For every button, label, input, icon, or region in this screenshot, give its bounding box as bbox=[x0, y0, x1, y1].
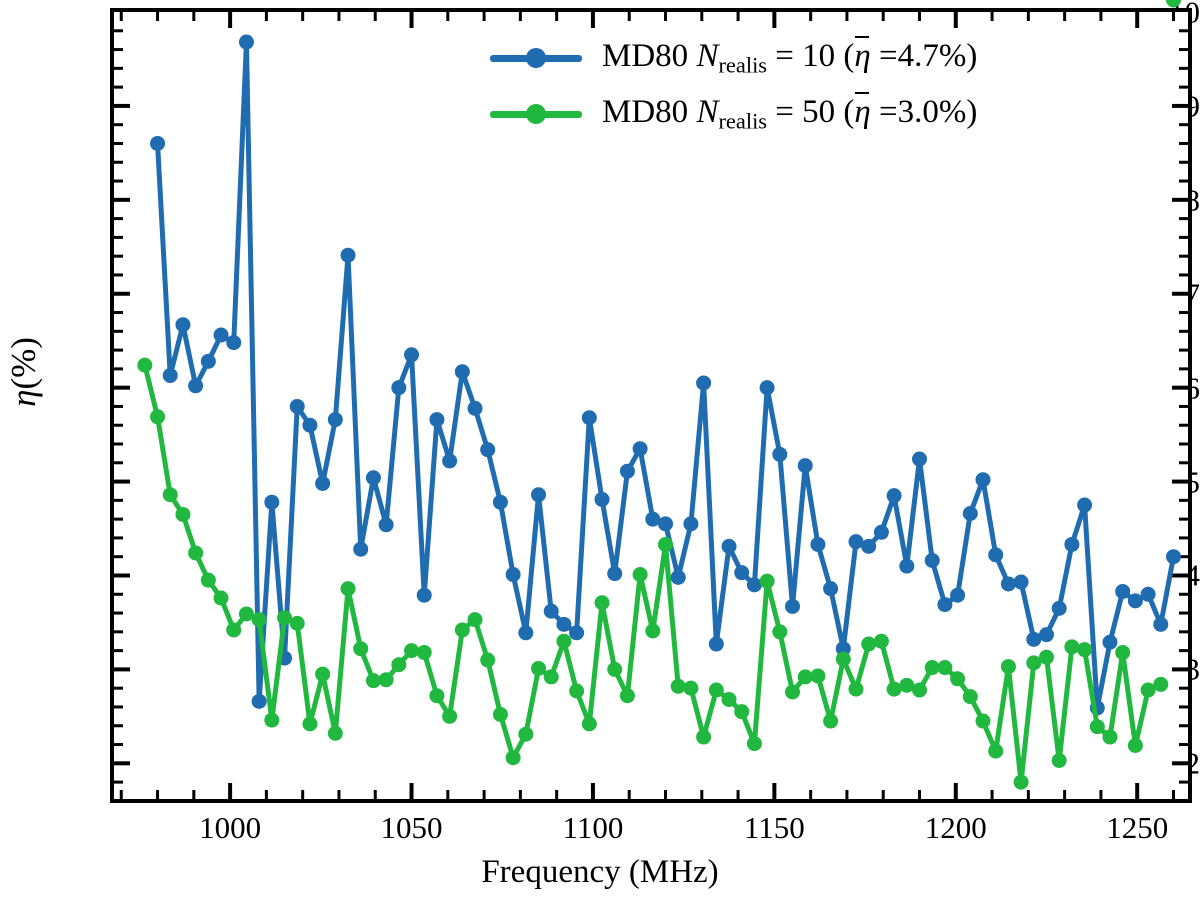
y-axis-title-unit: (%) bbox=[4, 337, 43, 389]
data-point bbox=[734, 704, 749, 719]
data-point bbox=[315, 667, 330, 682]
data-point bbox=[1052, 601, 1067, 616]
chart-root: 1098765432 100010501100115012001250 η(%)… bbox=[0, 0, 1200, 903]
data-point bbox=[150, 409, 165, 424]
data-point bbox=[633, 441, 648, 456]
data-point bbox=[417, 645, 432, 660]
data-point bbox=[518, 625, 533, 640]
data-point bbox=[455, 622, 470, 637]
x-axis-title: Frequency (MHz) bbox=[0, 854, 1200, 891]
data-point bbox=[696, 730, 711, 745]
data-point bbox=[772, 447, 787, 462]
data-point bbox=[328, 412, 343, 427]
data-point bbox=[175, 317, 190, 332]
data-point bbox=[620, 464, 635, 479]
data-point bbox=[620, 688, 635, 703]
data-point bbox=[290, 399, 305, 414]
data-point bbox=[404, 347, 419, 362]
data-point bbox=[925, 553, 940, 568]
data-point bbox=[607, 566, 622, 581]
data-point bbox=[366, 673, 381, 688]
data-point bbox=[899, 559, 914, 574]
data-point bbox=[1001, 659, 1016, 674]
data-point bbox=[1039, 627, 1054, 642]
data-point bbox=[569, 625, 584, 640]
data-point bbox=[950, 588, 965, 603]
data-point bbox=[188, 378, 203, 393]
data-point bbox=[544, 669, 559, 684]
data-point bbox=[1039, 650, 1054, 665]
data-point bbox=[328, 726, 343, 741]
data-point bbox=[671, 570, 686, 585]
chart-legend: MD80 Nrealis = 10 (η =4.7%)MD80 Nrealis … bbox=[490, 30, 1150, 142]
data-point bbox=[429, 412, 444, 427]
data-point bbox=[252, 694, 267, 709]
data-point bbox=[760, 380, 775, 395]
data-point bbox=[836, 652, 851, 667]
legend-swatch-icon bbox=[490, 103, 582, 125]
data-point bbox=[404, 643, 419, 658]
data-point bbox=[1064, 639, 1079, 654]
data-point bbox=[988, 744, 1003, 759]
data-point bbox=[506, 750, 521, 765]
data-point bbox=[747, 577, 762, 592]
data-point bbox=[442, 453, 457, 468]
data-point bbox=[849, 682, 864, 697]
data-point bbox=[810, 668, 825, 683]
data-point bbox=[188, 545, 203, 560]
data-point bbox=[658, 537, 673, 552]
data-point bbox=[137, 358, 152, 373]
data-point bbox=[239, 35, 254, 50]
data-point bbox=[531, 487, 546, 502]
data-point bbox=[468, 612, 483, 627]
legend-item-n50[interactable]: MD80 Nrealis = 50 (η =3.0%) bbox=[490, 86, 1150, 142]
data-point bbox=[506, 567, 521, 582]
data-point bbox=[468, 401, 483, 416]
data-point bbox=[429, 688, 444, 703]
data-point bbox=[912, 452, 927, 467]
data-point bbox=[201, 354, 216, 369]
data-point bbox=[887, 488, 902, 503]
data-point bbox=[442, 709, 457, 724]
data-point bbox=[1102, 635, 1117, 650]
data-point bbox=[353, 641, 368, 656]
data-point bbox=[493, 707, 508, 722]
data-point bbox=[595, 492, 610, 507]
data-point bbox=[544, 604, 559, 619]
data-point bbox=[963, 689, 978, 704]
data-point bbox=[722, 539, 737, 554]
data-point bbox=[1153, 677, 1168, 692]
data-point bbox=[480, 653, 495, 668]
data-point bbox=[633, 567, 648, 582]
data-point bbox=[1166, 549, 1181, 564]
data-point bbox=[455, 364, 470, 379]
data-point bbox=[556, 617, 571, 632]
data-point bbox=[645, 623, 660, 638]
data-point bbox=[874, 634, 889, 649]
data-point bbox=[1115, 645, 1130, 660]
data-point bbox=[391, 380, 406, 395]
data-point bbox=[709, 637, 724, 652]
data-point bbox=[302, 716, 317, 731]
data-point bbox=[353, 542, 368, 557]
data-point bbox=[937, 660, 952, 675]
data-point bbox=[823, 581, 838, 596]
data-point bbox=[569, 684, 584, 699]
data-point bbox=[747, 736, 762, 751]
data-point bbox=[163, 368, 178, 383]
data-point bbox=[175, 507, 190, 522]
data-point bbox=[1128, 738, 1143, 753]
legend-label: MD80 Nrealis = 50 (η =3.0%) bbox=[602, 94, 977, 134]
data-point bbox=[722, 692, 737, 707]
data-point bbox=[1141, 587, 1156, 602]
data-point bbox=[1052, 753, 1067, 768]
data-point bbox=[556, 634, 571, 649]
data-point bbox=[798, 458, 813, 473]
y-axis-title: η(%) bbox=[4, 312, 44, 432]
data-point bbox=[518, 727, 533, 742]
data-point bbox=[861, 539, 876, 554]
data-point bbox=[709, 683, 724, 698]
data-point bbox=[1077, 498, 1092, 513]
data-point bbox=[302, 418, 317, 433]
data-point bbox=[379, 517, 394, 532]
data-point bbox=[887, 682, 902, 697]
legend-swatch-icon bbox=[490, 47, 582, 69]
data-point bbox=[785, 599, 800, 614]
data-point bbox=[264, 713, 279, 728]
data-point bbox=[226, 335, 241, 350]
legend-label: MD80 Nrealis = 10 (η =4.7%) bbox=[602, 38, 977, 78]
data-point bbox=[252, 612, 267, 627]
data-point bbox=[937, 597, 952, 612]
data-point bbox=[658, 516, 673, 531]
data-point bbox=[201, 573, 216, 588]
data-point bbox=[760, 574, 775, 589]
data-point bbox=[607, 662, 622, 677]
data-point bbox=[1014, 575, 1029, 590]
data-point bbox=[1128, 593, 1143, 608]
data-point bbox=[315, 476, 330, 491]
data-point bbox=[1115, 584, 1130, 599]
data-point bbox=[1014, 775, 1029, 790]
data-point bbox=[366, 470, 381, 485]
data-point bbox=[874, 525, 889, 540]
data-point bbox=[810, 537, 825, 552]
data-point bbox=[163, 487, 178, 502]
data-point bbox=[976, 472, 991, 487]
data-point bbox=[341, 248, 356, 263]
data-point bbox=[734, 565, 749, 580]
data-point bbox=[480, 442, 495, 457]
data-point bbox=[823, 714, 838, 729]
data-point bbox=[976, 714, 991, 729]
data-point bbox=[214, 591, 229, 606]
legend-item-n10[interactable]: MD80 Nrealis = 10 (η =4.7%) bbox=[490, 30, 1150, 86]
data-point bbox=[1090, 719, 1105, 734]
data-point bbox=[1064, 537, 1079, 552]
data-point bbox=[595, 595, 610, 610]
data-point bbox=[1102, 730, 1117, 745]
data-point bbox=[582, 410, 597, 425]
data-point bbox=[683, 516, 698, 531]
data-point bbox=[214, 328, 229, 343]
data-point bbox=[671, 679, 686, 694]
data-point bbox=[379, 672, 394, 687]
data-point bbox=[341, 581, 356, 596]
data-point bbox=[785, 684, 800, 699]
eta-symbol: η bbox=[4, 390, 43, 407]
data-point bbox=[861, 637, 876, 652]
data-point bbox=[391, 657, 406, 672]
data-point bbox=[1153, 617, 1168, 632]
data-point bbox=[963, 506, 978, 521]
data-point bbox=[1001, 576, 1016, 591]
data-point bbox=[988, 547, 1003, 562]
data-point bbox=[531, 661, 546, 676]
data-point bbox=[264, 495, 279, 510]
data-point bbox=[226, 622, 241, 637]
data-point bbox=[1077, 642, 1092, 657]
data-point bbox=[582, 716, 597, 731]
data-point bbox=[290, 616, 305, 631]
data-point bbox=[772, 624, 787, 639]
data-point bbox=[696, 375, 711, 390]
data-point bbox=[683, 681, 698, 696]
data-point bbox=[912, 683, 927, 698]
data-point bbox=[798, 669, 813, 684]
data-point bbox=[150, 136, 165, 151]
data-point bbox=[493, 495, 508, 510]
data-point bbox=[950, 671, 965, 686]
data-point bbox=[1166, 0, 1181, 8]
data-point bbox=[417, 588, 432, 603]
